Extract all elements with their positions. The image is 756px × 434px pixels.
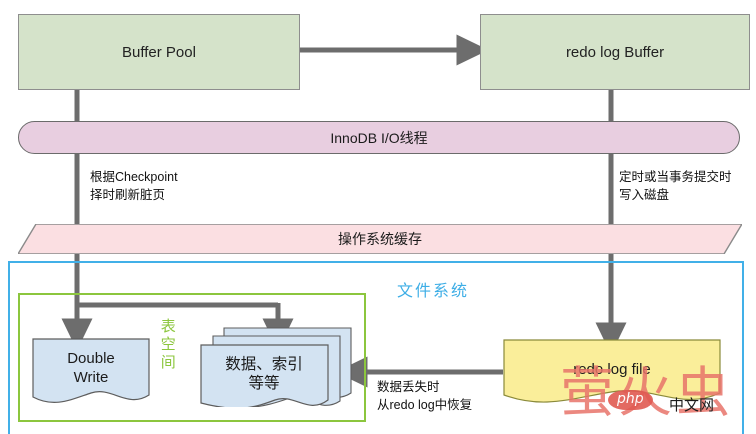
- label-recover-from-redo: 数据丢失时 从redo log中恢复: [377, 378, 557, 414]
- node-double-write[interactable]: Double Write: [32, 338, 150, 406]
- node-buffer-pool[interactable]: Buffer Pool: [18, 14, 300, 90]
- banner-innodb-io-thread-label: InnoDB I/O线程: [330, 128, 427, 148]
- node-buffer-pool-label: Buffer Pool: [122, 44, 196, 61]
- node-redo-log-buffer-label: redo log Buffer: [566, 44, 664, 61]
- container-file-system-label: 文件系统: [397, 277, 469, 301]
- node-redo-log-file-label: redo log file: [503, 361, 721, 378]
- node-data-index-stack[interactable]: 数据、索引 等等: [200, 327, 352, 407]
- banner-os-cache-label: 操作系统缓存: [18, 224, 742, 254]
- data-index-doc-shapes: [200, 327, 352, 407]
- label-timed-commit-write: 定时或当事务提交时 写入磁盘: [619, 168, 756, 204]
- label-checkpoint-flush: 根据Checkpoint 择时刷新脏页: [90, 168, 270, 204]
- diagram-canvas: Buffer Pool redo log Buffer InnoDB I/O线程…: [0, 0, 756, 434]
- container-tablespace-label: 表空间: [156, 318, 178, 372]
- double-write-doc-shape: [32, 338, 150, 406]
- node-redo-log-buffer[interactable]: redo log Buffer: [480, 14, 750, 90]
- banner-os-cache[interactable]: 操作系统缓存: [18, 224, 742, 254]
- banner-innodb-io-thread[interactable]: InnoDB I/O线程: [18, 121, 740, 154]
